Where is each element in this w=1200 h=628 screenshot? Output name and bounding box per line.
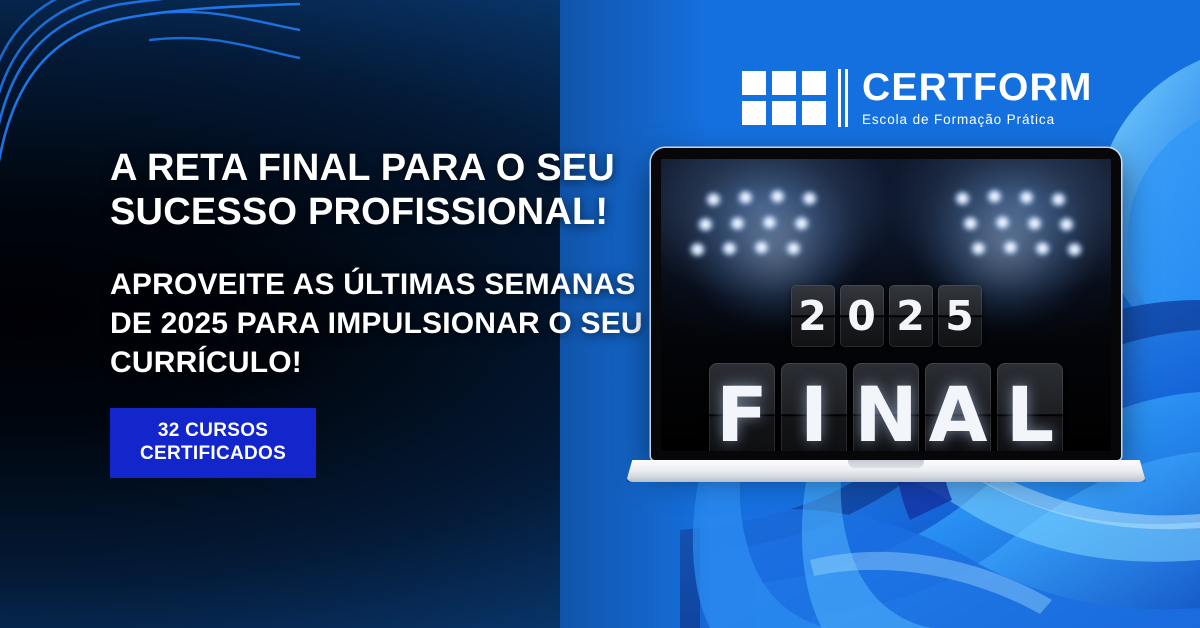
lamp-icon xyxy=(962,216,979,231)
flip-tile-char: 5 xyxy=(945,296,974,337)
lamp-icon xyxy=(697,217,714,232)
flip-tile: 5 xyxy=(938,285,982,347)
laptop-lid: 2 0 2 5 F I N A L xyxy=(651,148,1121,460)
flip-tile: I xyxy=(781,363,847,451)
flip-tile-char: A xyxy=(929,377,988,451)
lamp-icon xyxy=(970,241,987,256)
lamp-icon xyxy=(753,240,770,255)
flip-tile-char: N xyxy=(854,377,918,451)
courses-badge[interactable]: 32 CURSOS CERTIFICADOS xyxy=(110,408,316,478)
flipboard-display: 2 0 2 5 F I N A L xyxy=(661,285,1111,451)
lamp-icon xyxy=(1002,240,1019,255)
flip-tile-char: 2 xyxy=(798,296,827,337)
flipboard-word-row: F I N A L xyxy=(661,363,1111,451)
lamp-icon xyxy=(729,216,746,231)
flip-tile-char: I xyxy=(800,377,828,451)
flip-tile-char: F xyxy=(716,377,768,451)
certform-logo: CERTFORM Escola de Formação Prática xyxy=(742,68,1093,127)
laptop-screen: 2 0 2 5 F I N A L xyxy=(661,159,1111,451)
promotional-banner: CERTFORM Escola de Formação Prática A RE… xyxy=(0,0,1200,628)
text-content-block: A RETA FINAL PARA O SEU SUCESSO PROFISSI… xyxy=(110,146,650,478)
flip-tile: N xyxy=(853,363,919,451)
lamp-icon xyxy=(793,216,810,231)
badge-line-2: CERTIFICADOS xyxy=(140,442,286,465)
flip-tile: 0 xyxy=(840,285,884,347)
laptop-base xyxy=(626,460,1146,482)
laptop-mockup: 2 0 2 5 F I N A L xyxy=(626,148,1146,482)
flip-tile: 2 xyxy=(889,285,933,347)
lamp-icon xyxy=(1050,192,1067,207)
grid-squares-icon xyxy=(742,71,826,125)
badge-line-1: 32 CURSOS xyxy=(158,420,268,441)
lamp-icon xyxy=(1034,241,1051,256)
flip-tile-char: L xyxy=(1006,377,1054,451)
flip-tile: 2 xyxy=(791,285,835,347)
flip-tile-char: 2 xyxy=(896,296,925,337)
lamp-icon xyxy=(1066,242,1083,257)
lamp-icon xyxy=(1026,216,1043,231)
lamp-icon xyxy=(1058,217,1075,232)
flip-tile: A xyxy=(925,363,991,451)
lamp-icon xyxy=(1018,190,1035,205)
subheadline: APROVEITE AS ÚLTIMAS SEMANAS DE 2025 PAR… xyxy=(110,265,650,382)
flip-tile-char: 0 xyxy=(847,296,876,337)
logo-divider-bars xyxy=(838,69,848,127)
lamp-icon xyxy=(954,191,971,206)
lamp-icon xyxy=(689,242,706,257)
lamp-icon xyxy=(769,189,786,204)
laptop-notch xyxy=(848,460,924,468)
lamp-icon xyxy=(801,191,818,206)
headline: A RETA FINAL PARA O SEU SUCESSO PROFISSI… xyxy=(110,146,650,235)
brand-tagline: Escola de Formação Prática xyxy=(862,112,1093,127)
lamp-icon xyxy=(721,241,738,256)
flip-tile: F xyxy=(709,363,775,451)
lamp-icon xyxy=(994,215,1011,230)
brand-name: CERTFORM xyxy=(862,68,1093,107)
lamp-icon xyxy=(761,215,778,230)
lamp-icon xyxy=(705,192,722,207)
lamp-icon xyxy=(986,189,1003,204)
lamp-icon xyxy=(785,241,802,256)
lamp-icon xyxy=(737,190,754,205)
flip-tile: L xyxy=(997,363,1063,451)
flipboard-year-row: 2 0 2 5 xyxy=(661,285,1111,347)
